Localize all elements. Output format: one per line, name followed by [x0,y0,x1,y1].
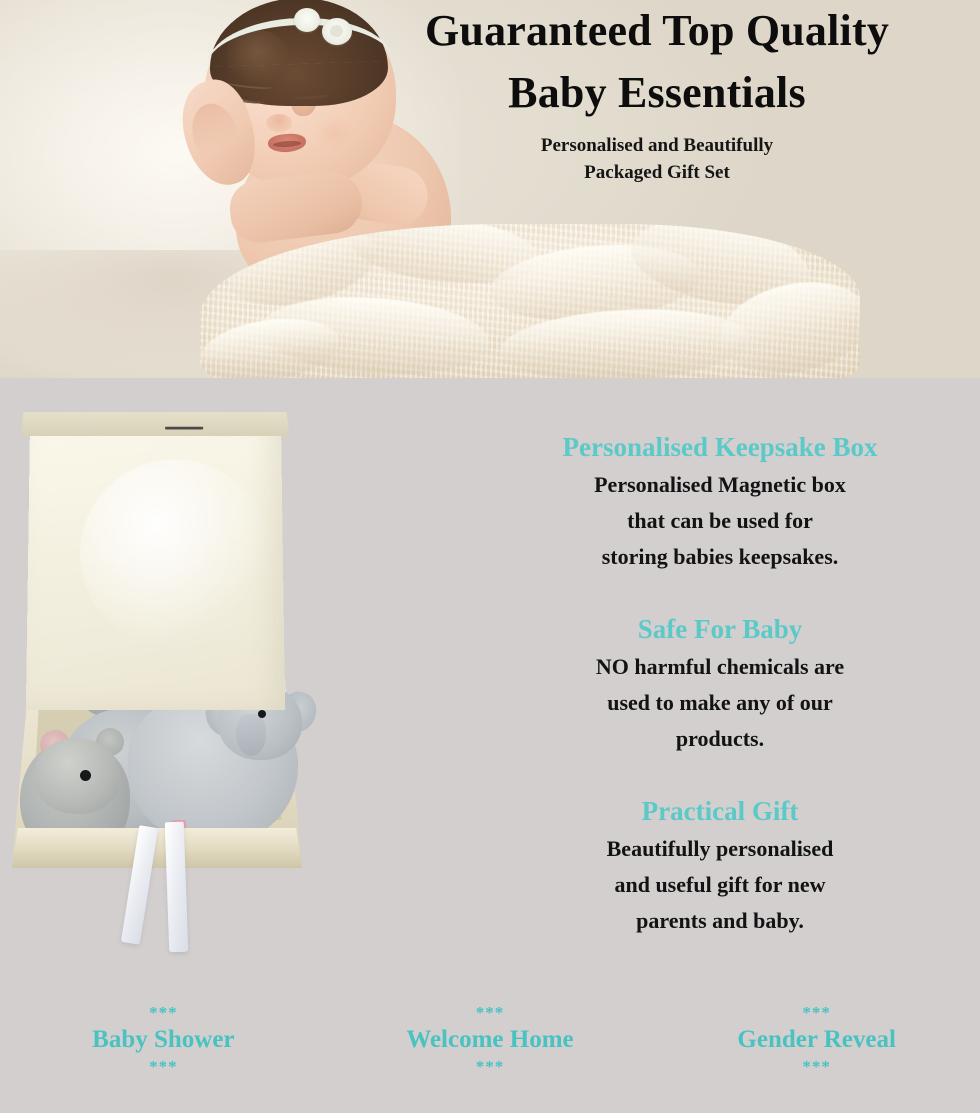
headband-flower-icon [294,8,320,32]
occasion-stars-top: *** [327,1003,654,1023]
occasion-stars-bottom: *** [653,1057,980,1077]
occasion-stars-top: *** [0,1003,327,1023]
feature-body: Personalised Magnetic box that can be us… [500,467,940,575]
feature-list: Personalised Keepsake Box Personalised M… [500,428,940,939]
baby-cheek [314,116,354,150]
feature-item-practical-gift: Practical Gift Beautifully personalised … [500,792,940,939]
feature-body-line-1: Personalised Magnetic box [594,472,846,497]
occasion-stars-top: *** [653,1003,980,1023]
plush-eye [80,770,91,781]
box-lid [26,421,285,710]
feature-body: NO harmful chemicals are used to make an… [500,649,940,757]
occasion-label: Gender Reveal [653,1023,980,1057]
hero-subtitle-line-2: Packaged Gift Set [584,162,730,183]
feature-body-line-2: used to make any of our [607,690,833,715]
knit-blanket-wrap [200,224,860,378]
hero-text-block: Guaranteed Top Quality Baby Essentials P… [362,0,952,186]
product-details-section: Personalised Keepsake Box Personalised M… [0,378,980,1113]
feature-body-line-2: and useful gift for new [614,872,825,897]
feature-title: Personalised Keepsake Box [500,428,940,466]
feature-body-line-1: Beautifully personalised [607,836,834,861]
plush-eye [258,710,266,718]
box-lid-highlight [79,459,271,648]
plush-elephant-small-trunk [236,714,266,756]
feature-body: Beautifully personalised and useful gift… [500,831,940,939]
box-lid-top-edge [21,412,290,436]
occasions-row: *** Baby Shower *** *** Welcome Home ***… [0,1003,980,1077]
feature-item-keepsake-box: Personalised Keepsake Box Personalised M… [500,428,940,575]
hero-title-line-1: Guaranteed Top Quality [425,6,889,55]
occasion-item-gender-reveal: *** Gender Reveal *** [653,1003,980,1077]
feature-body-line-3: products. [676,726,764,751]
occasion-label: Baby Shower [0,1023,327,1057]
occasion-item-baby-shower: *** Baby Shower *** [0,1003,327,1077]
hero-title: Guaranteed Top Quality Baby Essentials [362,0,952,124]
occasion-stars-bottom: *** [0,1057,327,1077]
feature-title: Safe For Baby [500,610,940,648]
baby-nose [266,114,292,132]
feature-body-line-2: that can be used for [627,508,813,533]
hero-banner: Guaranteed Top Quality Baby Essentials P… [0,0,980,378]
occasion-item-welcome-home: *** Welcome Home *** [327,1003,654,1077]
plush-bear-head [34,738,120,814]
hero-subtitle: Personalised and Beautifully Packaged Gi… [362,132,952,186]
infographic-page: Guaranteed Top Quality Baby Essentials P… [0,0,980,1113]
magnetic-clasp-icon [165,427,203,430]
occasion-label: Welcome Home [327,1023,654,1057]
hero-subtitle-line-1: Personalised and Beautifully [541,135,773,156]
feature-item-safe-for-baby: Safe For Baby NO harmful chemicals are u… [500,610,940,757]
feature-body-line-3: storing babies keepsakes. [602,544,839,569]
occasion-stars-bottom: *** [327,1057,654,1077]
feature-body-line-3: parents and baby. [636,908,804,933]
headband-rosette-icon [322,18,352,45]
hero-title-line-2: Baby Essentials [508,68,806,117]
feature-body-line-1: NO harmful chemicals are [596,654,844,679]
feature-title: Practical Gift [500,792,940,830]
gift-box-product-photo [0,408,330,1008]
